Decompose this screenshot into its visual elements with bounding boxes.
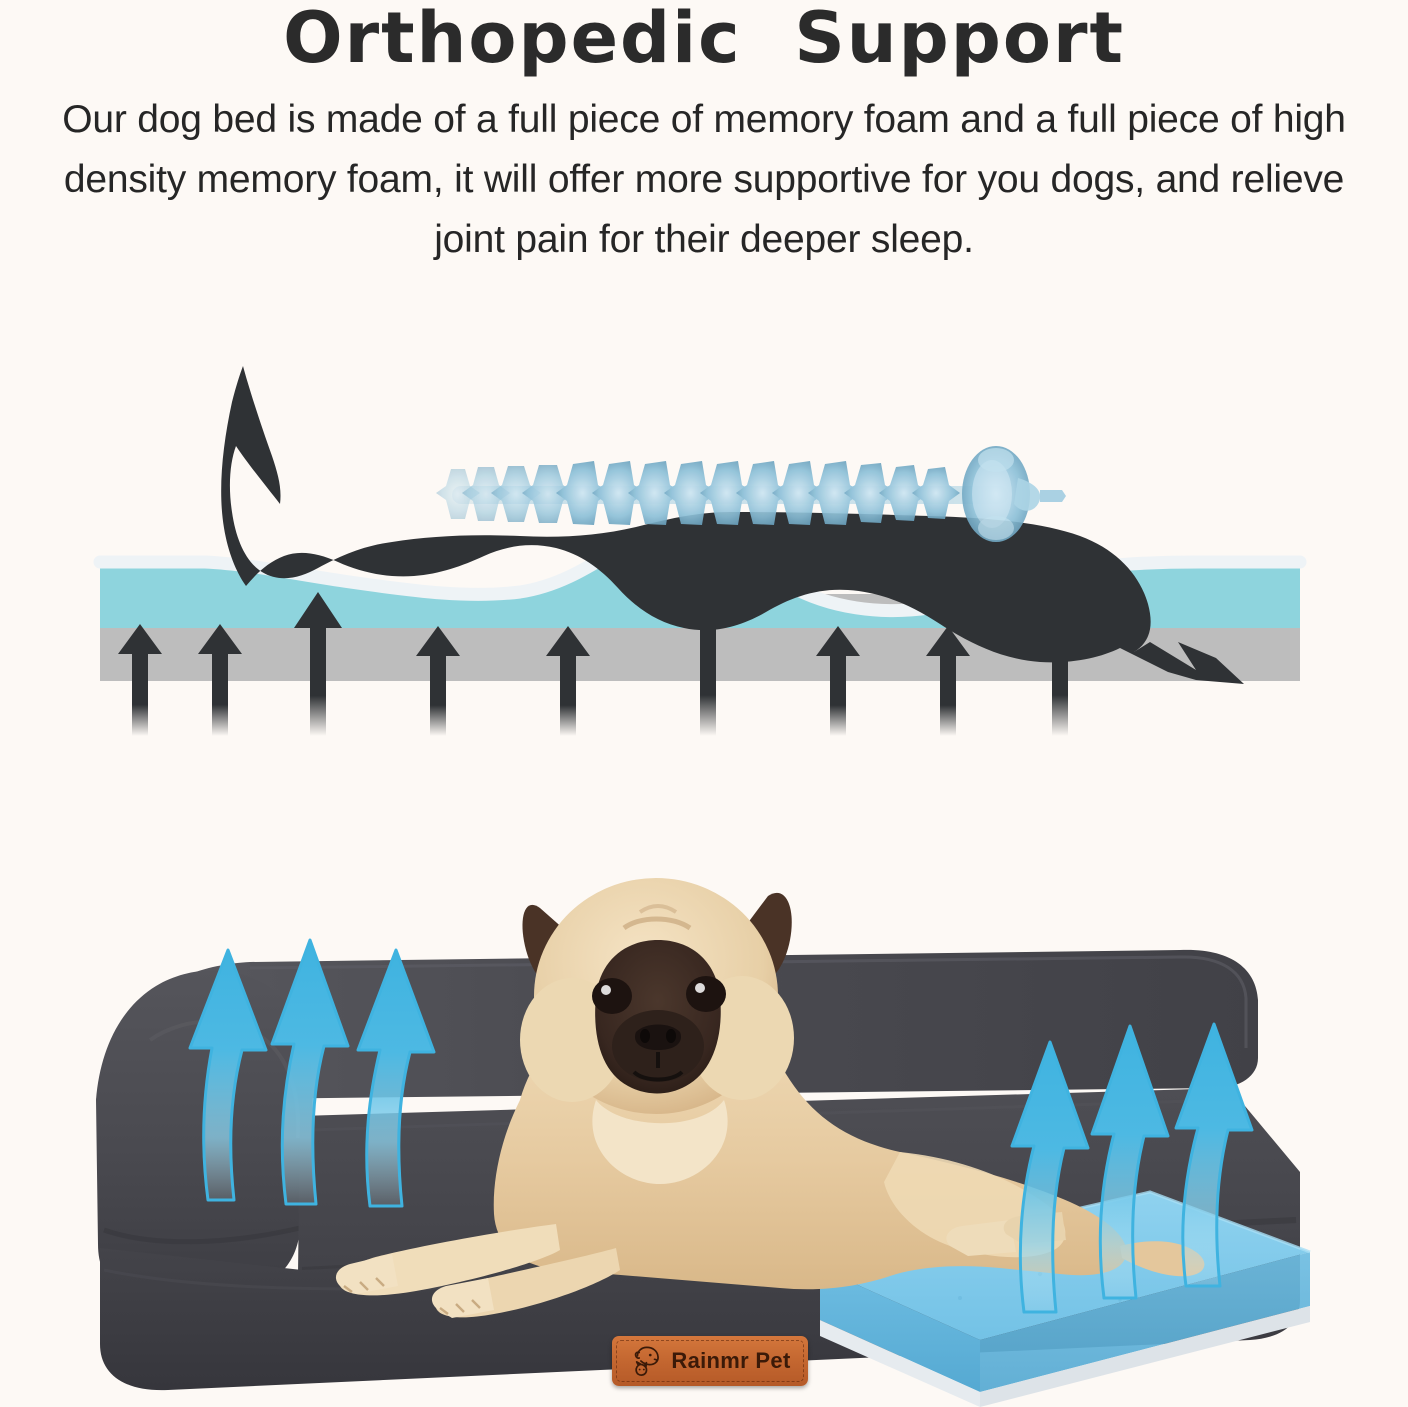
product-feature-page: Orthopedic Support Our dog bed is made o… [0,0,1408,1407]
page-description: Our dog bed is made of a full piece of m… [24,90,1384,271]
product-photo-scene [0,800,1408,1407]
airflow-arrow-group-left [190,940,434,1206]
page-title: Orthopedic Support [0,0,1408,76]
airflow-arrow-group-right [1012,1024,1252,1312]
diagram-canvas [0,336,1408,736]
dog-and-cat-head-logo-icon [629,1344,663,1378]
brand-name: Rainmr Pet [671,1348,790,1374]
pelvis-xray [962,446,1066,542]
header-block: Orthopedic Support Our dog bed is made o… [0,0,1408,271]
orthopedic-support-diagram [0,336,1408,736]
brand-logo-patch: Rainmr Pet [612,1336,808,1386]
scene-canvas [0,800,1408,1407]
